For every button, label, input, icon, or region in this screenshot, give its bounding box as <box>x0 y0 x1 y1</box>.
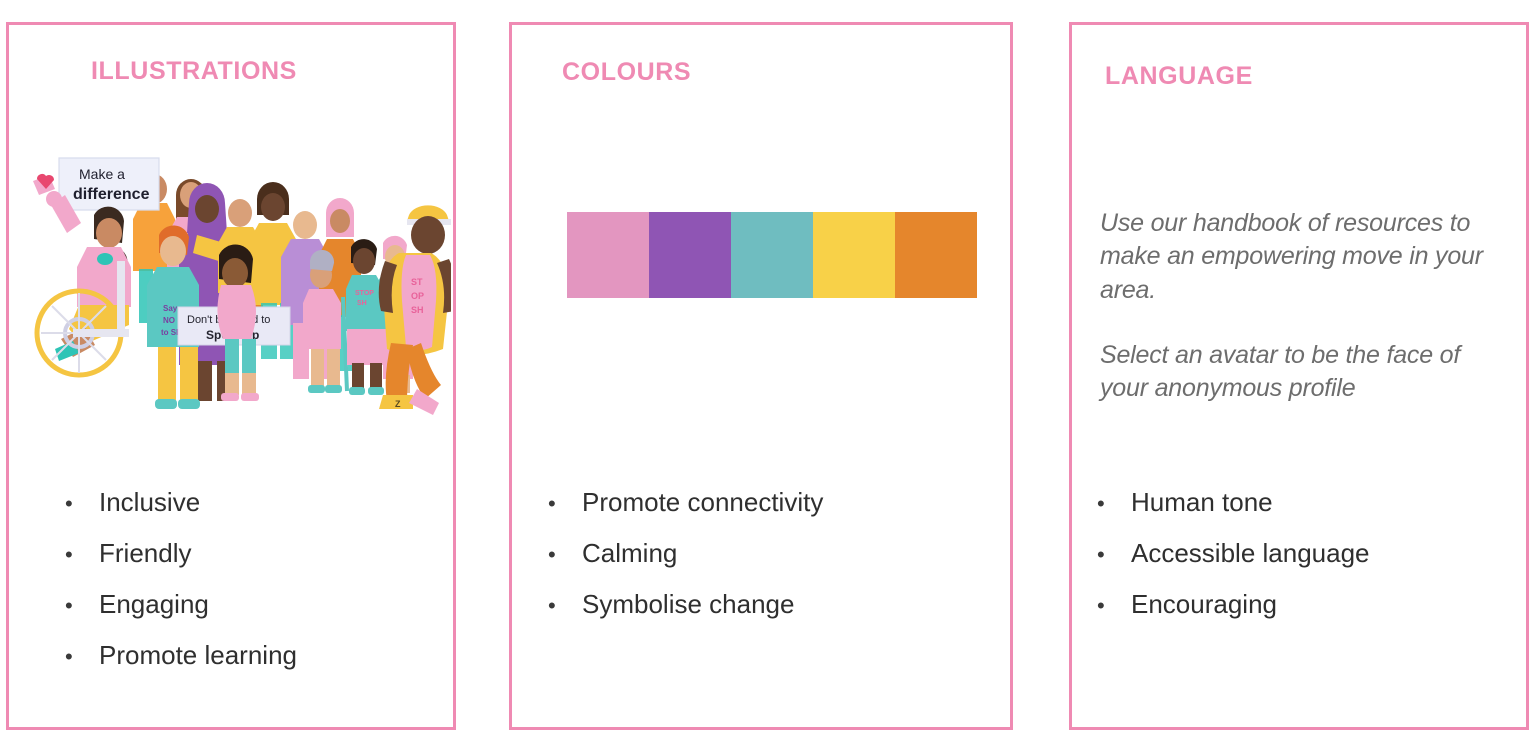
svg-text:Z: Z <box>395 399 401 409</box>
list-item-label: Symbolise change <box>582 579 794 630</box>
svg-text:OP: OP <box>411 291 424 301</box>
list-item: • Promote learning <box>65 630 297 681</box>
colour-swatch-teal <box>731 212 813 298</box>
list-item-label: Accessible language <box>1131 528 1370 579</box>
colour-swatch-yellow <box>813 212 895 298</box>
svg-text:SH: SH <box>411 305 424 315</box>
brand-guidelines-board: ILLUSTRATIONS <box>0 0 1536 752</box>
list-item-label: Calming <box>582 528 677 579</box>
panel-language: LANGUAGE Use our handbook of resources t… <box>1069 22 1529 730</box>
list-item-label: Inclusive <box>99 477 200 528</box>
colour-swatch-orange <box>895 212 977 298</box>
list-item: • Encouraging <box>1097 579 1370 630</box>
svg-text:difference: difference <box>73 186 150 203</box>
list-item: • Inclusive <box>65 477 297 528</box>
language-paragraph-2: Select an avatar to be the face of your … <box>1100 339 1500 406</box>
bullet-icon: • <box>1097 478 1131 529</box>
bullet-icon: • <box>1097 580 1131 631</box>
list-item-label: Engaging <box>99 579 209 630</box>
svg-text:STOP: STOP <box>355 290 374 297</box>
bullet-icon: • <box>548 529 582 580</box>
panel-title-illustrations: ILLUSTRATIONS <box>91 57 297 86</box>
language-copy-block: Use our handbook of resources to make an… <box>1100 207 1500 405</box>
list-item-label: Human tone <box>1131 477 1273 528</box>
list-item-label: Encouraging <box>1131 579 1277 630</box>
bullet-icon: • <box>65 529 99 580</box>
bullet-icon: • <box>65 478 99 529</box>
bullet-icon: • <box>65 631 99 682</box>
panel-colours: COLOURS • Promote connectivity • Calming… <box>509 22 1013 730</box>
panel-title-language: LANGUAGE <box>1105 62 1253 91</box>
language-paragraph-1: Use our handbook of resources to make an… <box>1100 207 1500 307</box>
svg-text:Say: Say <box>163 304 178 313</box>
list-item: • Accessible language <box>1097 528 1370 579</box>
list-item-label: Promote learning <box>99 630 297 681</box>
list-item: • Engaging <box>65 579 297 630</box>
language-bullet-list: • Human tone • Accessible language • Enc… <box>1097 477 1370 630</box>
crowd-of-diverse-people-illustration: Make a difference <box>21 143 451 423</box>
list-item: • Symbolise change <box>548 579 823 630</box>
list-item: • Human tone <box>1097 477 1370 528</box>
panel-title-colours: COLOURS <box>562 58 691 87</box>
list-item-label: Promote connectivity <box>582 477 823 528</box>
bullet-icon: • <box>548 580 582 631</box>
illustrations-bullet-list: • Inclusive • Friendly • Engaging • Prom… <box>65 477 297 681</box>
colour-swatch-purple <box>649 212 731 298</box>
svg-text:ST: ST <box>411 277 423 287</box>
bullet-icon: • <box>548 478 582 529</box>
bullet-icon: • <box>1097 529 1131 580</box>
svg-text:Make a: Make a <box>79 166 125 182</box>
svg-text:NO: NO <box>163 316 175 325</box>
bullet-icon: • <box>65 580 99 631</box>
list-item: • Calming <box>548 528 823 579</box>
colours-bullet-list: • Promote connectivity • Calming • Symbo… <box>548 477 823 630</box>
list-item: • Friendly <box>65 528 297 579</box>
colour-swatch-pink <box>567 212 649 298</box>
colour-palette-swatch-bar <box>567 212 977 298</box>
list-item-label: Friendly <box>99 528 191 579</box>
list-item: • Promote connectivity <box>548 477 823 528</box>
panel-illustrations: ILLUSTRATIONS <box>6 22 456 730</box>
svg-text:SH: SH <box>357 300 367 307</box>
